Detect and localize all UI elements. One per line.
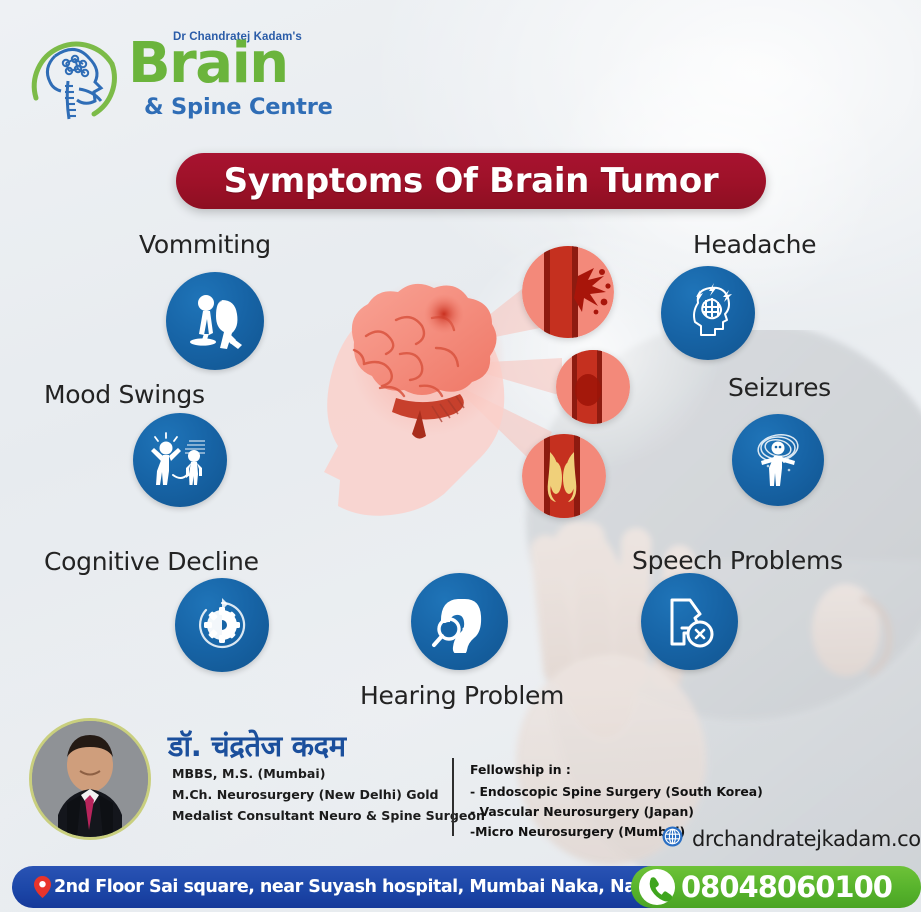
head-brain-lightning-icon xyxy=(661,266,755,360)
fellowship-item: -Micro Neurosurgery (Mumbai) xyxy=(470,824,685,839)
artery-plaque-icon xyxy=(522,434,606,518)
doctor-credential-line: M.Ch. Neurosurgery (New Delhi) Gold xyxy=(172,787,439,802)
doctor-credential-line: MBBS, M.S. (Mumbai) xyxy=(172,766,326,781)
person-vomiting-icon xyxy=(166,272,264,370)
symptom-label: Vommiting xyxy=(139,230,271,259)
face-profile-mute-icon xyxy=(641,573,738,670)
logo-subtitle: & Spine Centre xyxy=(144,96,333,119)
website-text: drchandratejkadam.com xyxy=(692,827,921,851)
footer-contact-bar: 2nd Floor Sai square, near Suyash hospit… xyxy=(0,866,921,912)
symptom-label: Mood Swings xyxy=(44,380,205,409)
page-title: Symptoms Of Brain Tumor xyxy=(224,161,719,201)
symptom-label: Seizures xyxy=(728,373,831,402)
map-pin-icon xyxy=(34,876,51,903)
fellowship-heading: Fellowship in : xyxy=(470,762,571,777)
phone-number: 08048060100 xyxy=(681,870,892,904)
globe-icon xyxy=(662,826,683,852)
doctor-name: डॉ. चंद्रतेज कदम xyxy=(168,726,346,765)
symptom-label: Cognitive Decline xyxy=(44,547,259,576)
mood-swings-two-figures-icon xyxy=(133,413,227,507)
ruptured-vessel-icon xyxy=(522,246,614,338)
doctor-portrait xyxy=(29,718,151,840)
symptom-label: Speech Problems xyxy=(632,546,843,575)
symptom-label: Hearing Problem xyxy=(360,681,564,710)
fellowship-item: - Endoscopic Spine Surgery (South Korea) xyxy=(470,784,763,799)
person-dizzy-spiral-icon xyxy=(732,414,824,506)
phone-bar[interactable]: 08048060100 xyxy=(631,866,921,908)
head-brain-spine-icon xyxy=(22,26,126,130)
ear-magnifier-icon xyxy=(411,573,508,670)
gear-snowflake-refresh-icon xyxy=(175,578,269,672)
clinic-logo: Dr Chandratej Kadam's Brain & Spine Cent… xyxy=(22,24,322,132)
infographic-poster: Dr Chandratej Kadam's Brain & Spine Cent… xyxy=(0,0,921,912)
phone-icon xyxy=(639,869,675,910)
doctor-credential-line: Medalist Consultant Neuro & Spine Surgeo… xyxy=(172,808,485,823)
page-title-banner: Symptoms Of Brain Tumor xyxy=(176,153,766,209)
fellowship-item: - Vascular Neurosurgery (Japan) xyxy=(470,804,694,819)
brain-tumor-illustration xyxy=(300,246,630,546)
vessel-clot-icon xyxy=(556,350,630,424)
symptom-label: Headache xyxy=(693,230,816,259)
logo-brand: Brain xyxy=(128,36,288,92)
address-text: 2nd Floor Sai square, near Suyash hospit… xyxy=(54,877,674,897)
website-link[interactable]: drchandratejkadam.com xyxy=(662,826,921,852)
vertical-divider xyxy=(452,758,454,836)
